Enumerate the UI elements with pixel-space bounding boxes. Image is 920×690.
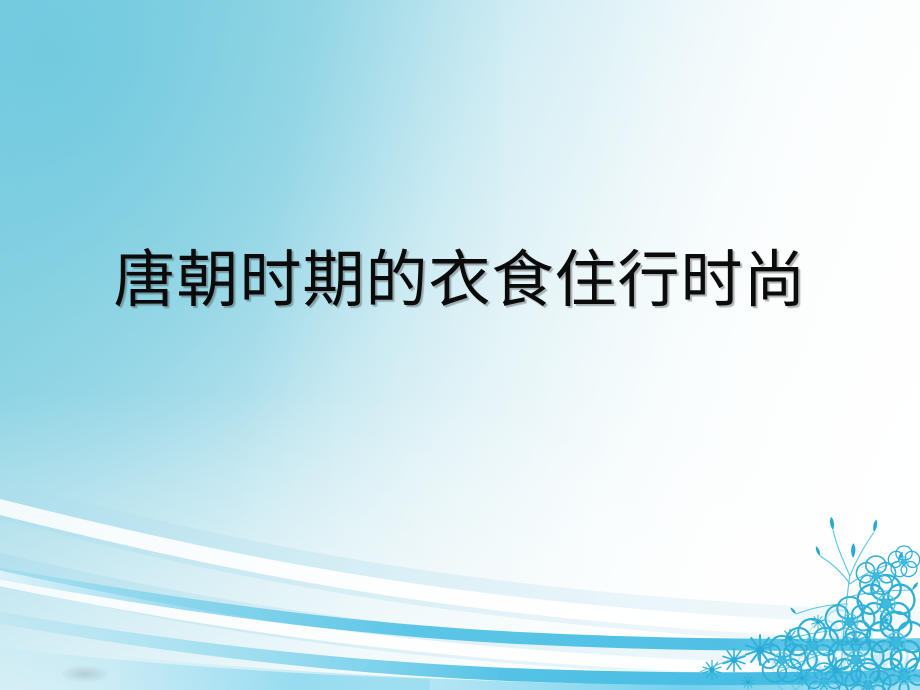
background-smudge [62, 666, 108, 682]
floral-corner-ornament [690, 500, 920, 690]
presentation-slide: 唐朝时期的衣食住行时尚 [0, 0, 920, 690]
